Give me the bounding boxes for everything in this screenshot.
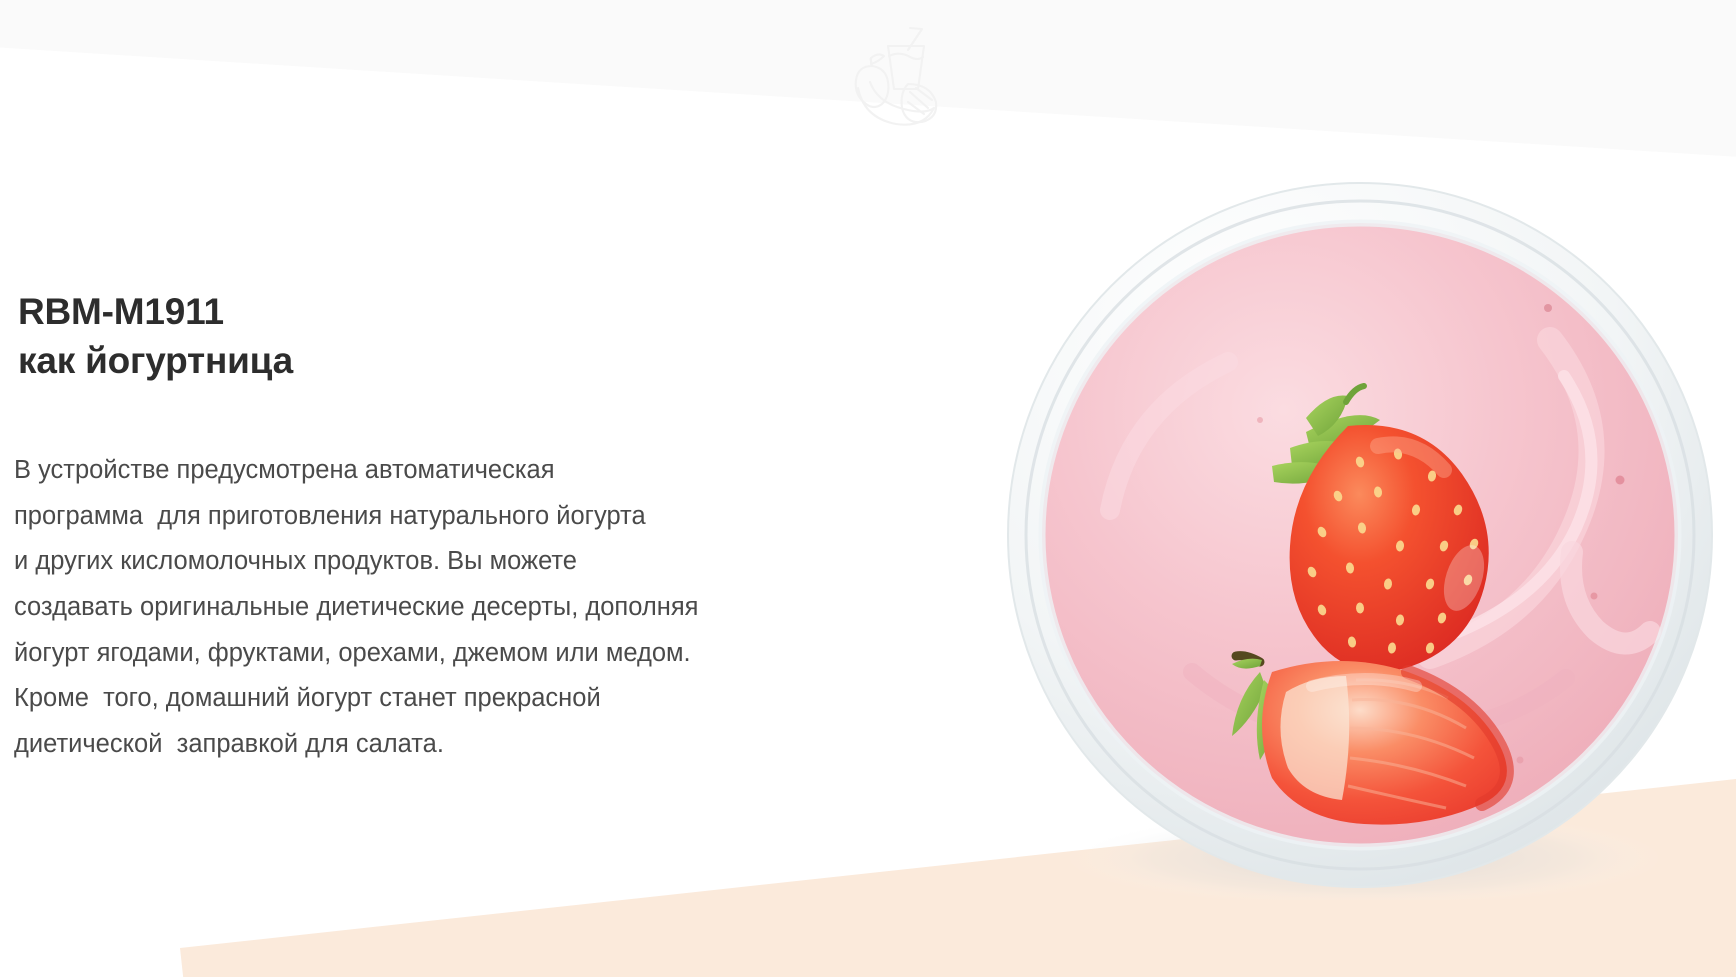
description-line: йогурт ягодами, фруктами, орехами, джемо…: [14, 631, 894, 677]
description-line: диетической заправкой для салата.: [14, 722, 894, 768]
page-title: RBM-M1911 как йогуртница: [18, 288, 293, 386]
strawberry-yogurt-bowl-image: [960, 180, 1736, 900]
content-column: RBM-M1911 как йогуртница В устройстве пр…: [14, 0, 914, 977]
description-paragraph: В устройстве предусмотрена автоматическа…: [14, 448, 894, 767]
description-line: В устройстве предусмотрена автоматическа…: [14, 448, 894, 494]
description-line: программа для приготовления натурального…: [14, 494, 894, 540]
description-line: и других кисломолочных продуктов. Вы мож…: [14, 539, 894, 585]
description-line: создавать оригинальные диетические десер…: [14, 585, 894, 631]
description-line: Кроме того, домашний йогурт станет прекр…: [14, 676, 894, 722]
